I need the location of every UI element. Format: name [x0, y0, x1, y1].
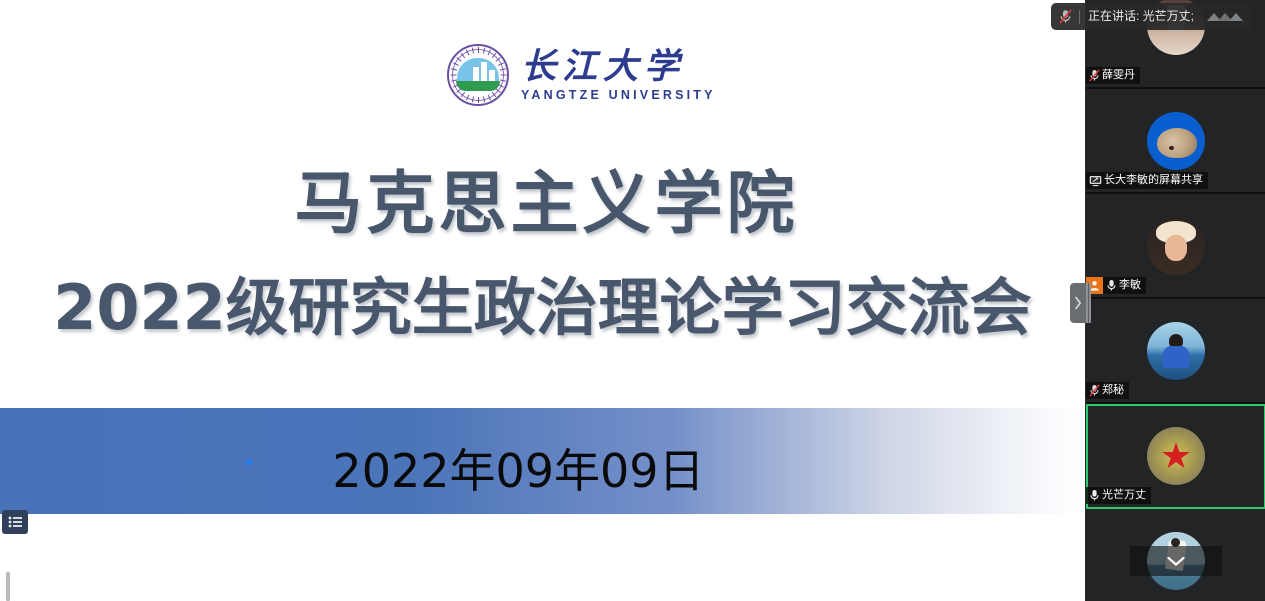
avatar — [1147, 322, 1205, 380]
presentation-slide: 长江大学 YANGTZE UNIVERSITY 马克思主义学院 2022级研究生… — [0, 0, 1085, 601]
avatar — [1147, 427, 1205, 485]
microphone-muted-icon — [1089, 384, 1100, 397]
slide-list-menu-icon[interactable] — [2, 510, 28, 534]
participant-tile[interactable]: 长大李敏的屏幕共享 — [1086, 89, 1265, 194]
active-speaker-label: 正在讲话: 光芒万丈; — [1088, 3, 1194, 30]
avatar — [1147, 217, 1205, 275]
participant-chip: 郑秘 — [1086, 382, 1129, 399]
slide-date: 2022年09年09日 — [0, 435, 1085, 501]
participant-rail[interactable]: 薛雯丹 长大李敏的屏幕共享 — [1085, 0, 1265, 601]
text-cursor-icon — [6, 572, 10, 601]
participant-name: 薛雯丹 — [1102, 68, 1135, 83]
participant-name: 光芒万丈 — [1102, 488, 1146, 503]
conference-screen-share-window: 长江大学 YANGTZE UNIVERSITY 马克思主义学院 2022级研究生… — [0, 0, 1265, 601]
participant-tile[interactable]: 郑秘 — [1086, 299, 1265, 404]
participant-chip: 薛雯丹 — [1086, 67, 1140, 84]
participant-chip: 长大李敏的屏幕共享 — [1086, 172, 1208, 189]
university-name-cn: 长江大学 — [521, 49, 716, 84]
shared-screen-area[interactable]: 长江大学 YANGTZE UNIVERSITY 马克思主义学院 2022级研究生… — [0, 0, 1085, 601]
avatar — [1147, 112, 1205, 170]
participant-tile-active-speaker[interactable]: 光芒万丈 — [1086, 404, 1265, 509]
university-logo: 长江大学 YANGTZE UNIVERSITY — [447, 44, 716, 106]
participant-tile[interactable]: 李敏 — [1086, 194, 1265, 299]
participant-name: 郑秘 — [1102, 383, 1124, 398]
microphone-icon — [1089, 489, 1100, 502]
chevron-down-icon[interactable] — [1130, 546, 1222, 576]
microphone-muted-icon — [1089, 69, 1100, 82]
participant-name: 长大李敏的屏幕共享 — [1104, 173, 1203, 188]
participant-name: 李敏 — [1119, 278, 1141, 293]
university-name-en: YANGTZE UNIVERSITY — [521, 89, 716, 102]
microphone-icon — [1106, 279, 1117, 292]
screen-share-icon — [1089, 175, 1102, 187]
slide-title: 马克思主义学院 — [4, 148, 1085, 247]
participant-chip: 光芒万丈 — [1086, 487, 1151, 504]
participant-tile[interactable] — [1086, 509, 1265, 601]
microphone-muted-icon — [1057, 9, 1079, 24]
rail-resize-grip[interactable] — [1086, 283, 1091, 323]
sound-waves-icon — [1206, 8, 1250, 26]
participant-chip: 李敏 — [1086, 277, 1146, 294]
toast-divider — [1079, 10, 1080, 24]
active-speaker-toast: 正在讲话: 光芒万丈; — [1051, 3, 1252, 30]
slide-subtitle: 2022级研究生政治理论学习交流会 — [0, 257, 1085, 347]
yangtze-university-crest-icon — [447, 44, 509, 106]
chevron-right-icon[interactable] — [1070, 283, 1086, 323]
